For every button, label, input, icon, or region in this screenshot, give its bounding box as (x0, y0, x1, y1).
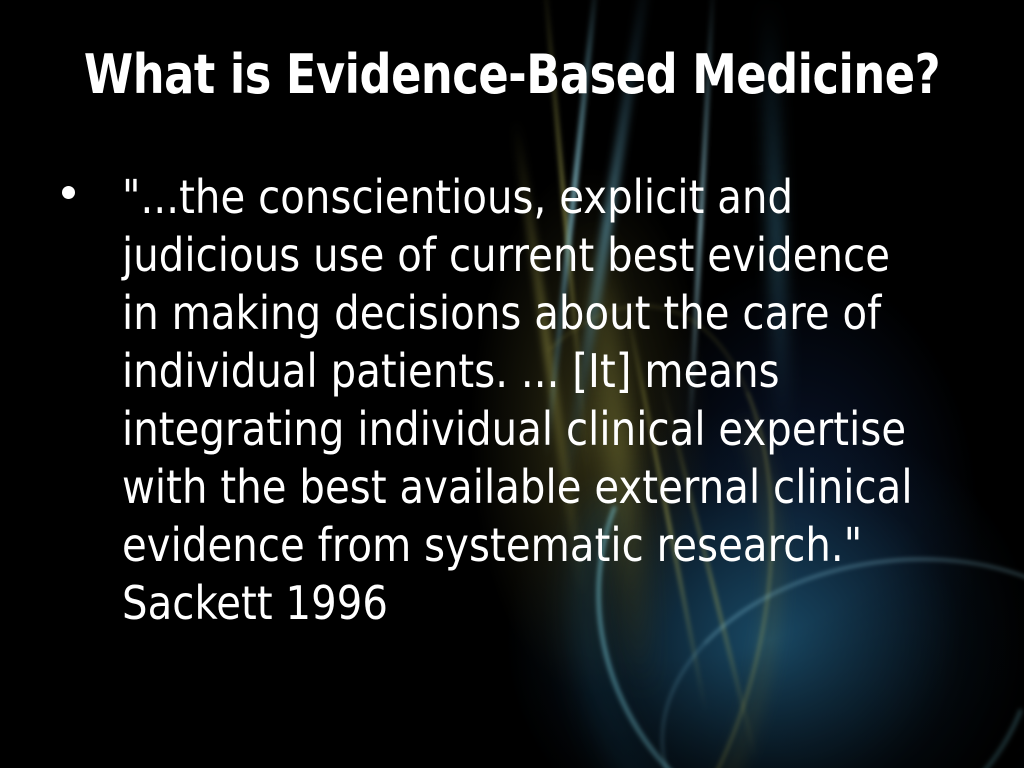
quote-text: "...the conscientious, explicit and judi… (122, 168, 931, 632)
page-title: What is Evidence-Based Medicine? (41, 48, 983, 102)
slide: What is Evidence-Based Medicine? "...the… (0, 0, 1024, 768)
bullet-list-item: "...the conscientious, explicit and judi… (56, 168, 956, 632)
bullet-dot-icon (62, 186, 75, 199)
slide-content: What is Evidence-Based Medicine? "...the… (0, 0, 1024, 768)
